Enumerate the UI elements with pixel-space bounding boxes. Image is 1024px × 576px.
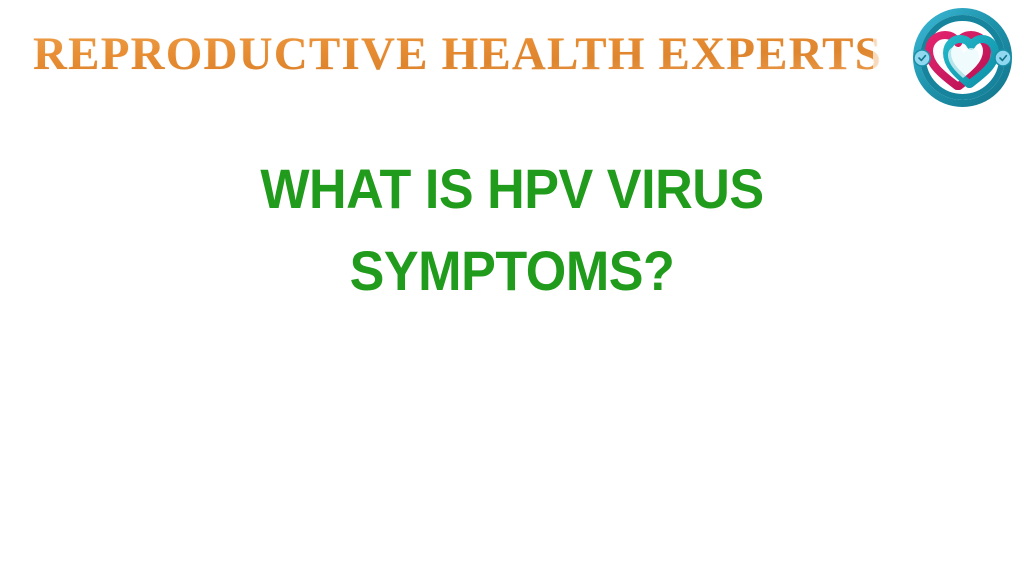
heart-medical-logo-icon (913, 8, 1012, 107)
page-title-line-2: SYMPTOMS? (36, 230, 988, 312)
page-title-line-1: WHAT IS HPV VIRUS (36, 148, 988, 230)
page-root: REPRODUCTIVE HEALTH EXPERTS (0, 0, 1024, 576)
content-area (0, 305, 1024, 576)
site-header: REPRODUCTIVE HEALTH EXPERTS (0, 0, 1024, 115)
brand-title: REPRODUCTIVE HEALTH EXPERTS (33, 28, 873, 80)
page-title: WHAT IS HPV VIRUS SYMPTOMS? (0, 148, 1024, 312)
